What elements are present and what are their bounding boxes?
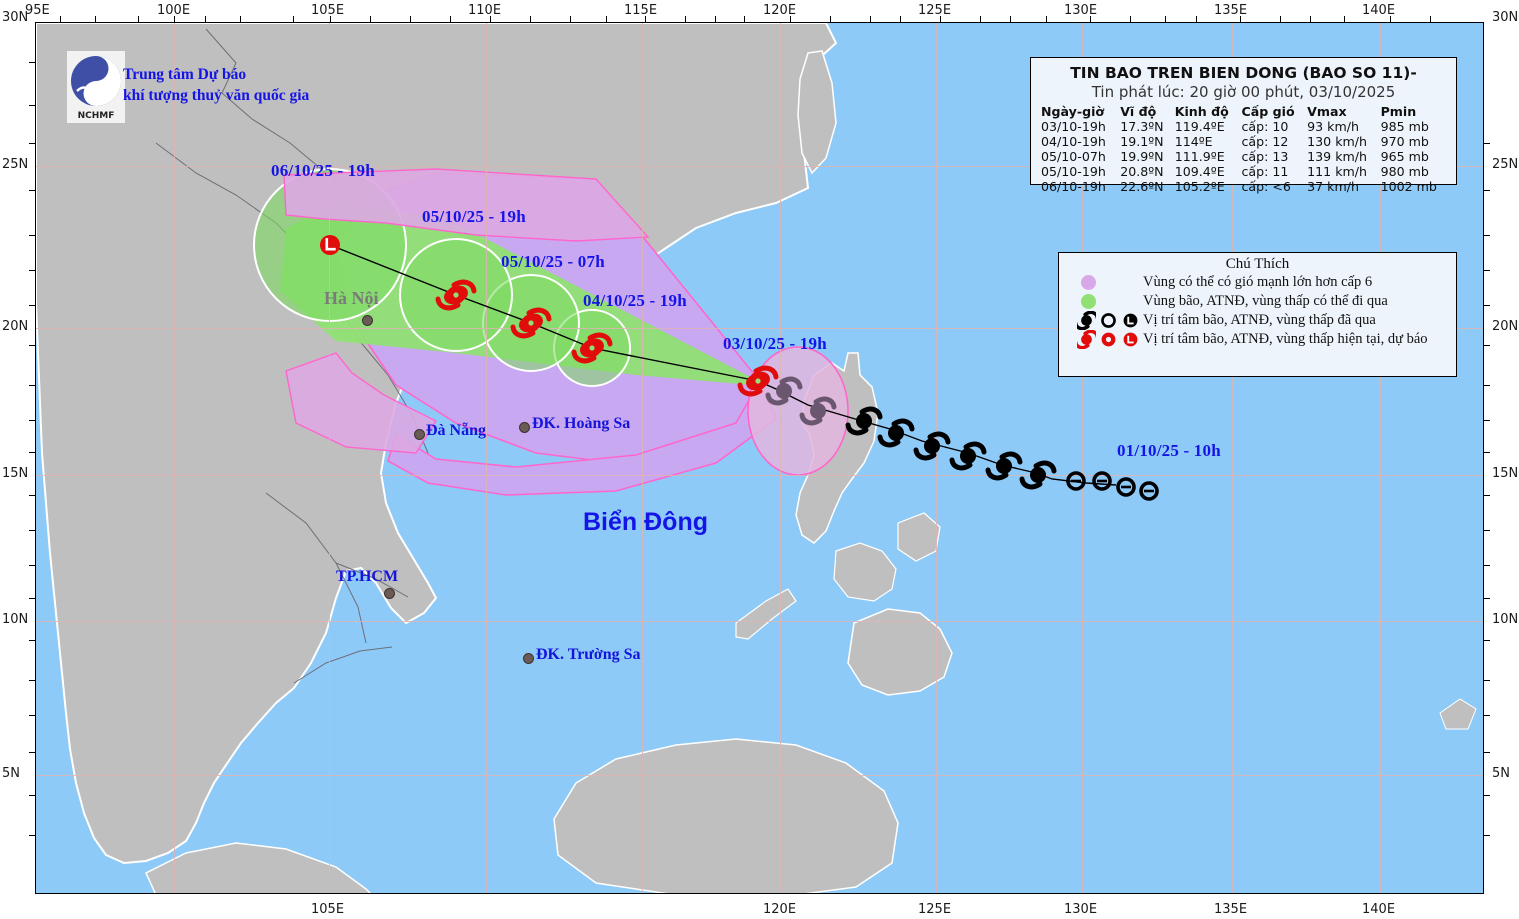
tick-top-34 bbox=[1310, 16, 1311, 22]
cell-pmin: 1002 mb bbox=[1379, 179, 1448, 194]
axis-left-lat-15n: 15N bbox=[2, 466, 28, 481]
tick-right-14 bbox=[1484, 640, 1490, 641]
city-dot-hoangsa bbox=[519, 422, 530, 433]
axis-left-lat-25n: 25N bbox=[2, 157, 28, 172]
cell-vmax: 130 km/h bbox=[1305, 134, 1378, 149]
typhoon-red-icon bbox=[1077, 330, 1096, 349]
cell-vmax: 93 km/h bbox=[1305, 119, 1378, 134]
tick-left-15 bbox=[29, 598, 35, 599]
axis-top-lon-100e: 100E bbox=[157, 3, 190, 18]
tick-right-6 bbox=[1484, 345, 1490, 346]
tick-top-18 bbox=[715, 16, 716, 22]
typhoon-forecast-map: 06/10/25 - 19h 05/10/25 - 19h 05/10/25 -… bbox=[0, 0, 1519, 919]
cell-datetime: 05/10-07h bbox=[1039, 149, 1118, 164]
tick-right-4 bbox=[1484, 270, 1490, 271]
cell-latitude: 17.3ºN bbox=[1118, 119, 1173, 134]
marker-low-3 bbox=[1118, 479, 1134, 495]
col-pmin: Pmin bbox=[1379, 104, 1448, 119]
tick-top-23 bbox=[900, 16, 901, 22]
axis-top-lon-140e: 140E bbox=[1362, 3, 1395, 18]
axis-left-lat-30n: 30N bbox=[2, 10, 28, 25]
axis-top-lon-115e: 115E bbox=[624, 3, 657, 18]
tick-right-12 bbox=[1484, 565, 1490, 566]
tick-top-7 bbox=[293, 16, 294, 22]
tick-top-5 bbox=[205, 16, 206, 22]
nchmf-logo: NCHMF bbox=[67, 51, 125, 123]
tick-top-35 bbox=[1344, 16, 1345, 22]
green-swatch-icon bbox=[1081, 294, 1096, 309]
table-row: 05/10-07h 19.9ºN 111.9ºE cấp: 13 139 km/… bbox=[1039, 149, 1448, 164]
bulletin-title: TIN BAO TREN BIEN DONG (BAO SO 11)- bbox=[1039, 64, 1448, 82]
cell-datetime: 03/10-19h bbox=[1039, 119, 1118, 134]
table-row: 04/10-19h 19.1ºN 114ºE cấp: 12 130 km/h … bbox=[1039, 134, 1448, 149]
marker-forecast-05-10-19h bbox=[438, 282, 474, 308]
axis-right-lat-10n: 10N bbox=[1492, 612, 1518, 627]
org-name: Trung tâm Dự báo khí tượng thuỷ văn quốc… bbox=[123, 65, 309, 107]
axis-right-lat-5n: 5N bbox=[1492, 766, 1510, 781]
col-datetime: Ngày-giờ bbox=[1039, 104, 1118, 119]
legend-item-past-positions: Vị trí tâm bão, ATNĐ, vùng thấp đã qua bbox=[1077, 311, 1456, 330]
tick-top-13 bbox=[530, 16, 531, 22]
track-path bbox=[330, 245, 1116, 485]
tick-top-33 bbox=[1280, 16, 1281, 22]
axis-bottom-lon-125e: 125E bbox=[918, 902, 951, 917]
marker-past-8 bbox=[1022, 463, 1054, 487]
cell-longitude: 109.4ºE bbox=[1173, 164, 1240, 179]
axis-top-lon-120e: 120E bbox=[763, 3, 796, 18]
tick-top-3 bbox=[138, 16, 139, 22]
tick-left-3 bbox=[29, 143, 35, 144]
tick-top-2 bbox=[95, 16, 96, 22]
tick-left-1 bbox=[29, 62, 35, 63]
legend-item-track-zone: Vùng bão, ATNĐ, vùng thấp có thể đi qua bbox=[1077, 292, 1456, 311]
axis-top-lon-135e: 135E bbox=[1214, 3, 1247, 18]
nchmf-logo-abbr: NCHMF bbox=[78, 111, 115, 121]
org-name-line1: Trung tâm Dự báo bbox=[123, 65, 309, 86]
bulletin-issued-time: Tin phát lúc: 20 giờ 00 phút, 03/10/2025 bbox=[1039, 83, 1448, 101]
tick-left-9 bbox=[29, 385, 35, 386]
tick-left-20 bbox=[29, 795, 35, 796]
cell-longitude: 105.2ºE bbox=[1173, 179, 1240, 194]
track-label-05-10-07h: 05/10/25 - 07h bbox=[501, 252, 605, 272]
purple-swatch-icon bbox=[1081, 275, 1096, 290]
axis-top-lon-110e: 110E bbox=[468, 3, 501, 18]
legend-panel: Chú Thích Vùng có thể có gió mạnh lớn hơ… bbox=[1058, 252, 1457, 377]
cell-longitude: 111.9ºE bbox=[1173, 149, 1240, 164]
tick-left-21 bbox=[29, 835, 35, 836]
circle-open-black-icon bbox=[1099, 311, 1118, 330]
tick-top-15 bbox=[606, 16, 607, 22]
cell-datetime: 04/10-19h bbox=[1039, 134, 1118, 149]
cell-pmin: 965 mb bbox=[1379, 149, 1448, 164]
cell-longitude: 119.4ºE bbox=[1173, 119, 1240, 134]
marker-past-4 bbox=[880, 421, 912, 445]
tick-right-2 bbox=[1484, 190, 1490, 191]
tick-top-21 bbox=[830, 16, 831, 22]
tick-right-10 bbox=[1484, 495, 1490, 496]
forecast-table-header-row: Ngày-giờ Vĩ độ Kinh độ Cấp gió Vmax Pmin bbox=[1039, 104, 1448, 119]
legend-item-current-positions: Vị trí tâm bão, ATNĐ, vùng thấp hiện tại… bbox=[1077, 330, 1456, 349]
col-windlevel: Cấp gió bbox=[1239, 104, 1305, 119]
tick-right-18 bbox=[1484, 795, 1490, 796]
table-row: 05/10-19h 20.8ºN 109.4ºE cấp: 11 111 km/… bbox=[1039, 164, 1448, 179]
tick-top-26 bbox=[1010, 16, 1011, 22]
axis-top-lon-125e: 125E bbox=[918, 3, 951, 18]
axis-right-lat-15n: 15N bbox=[1492, 466, 1518, 481]
axis-top-lon-95e: 95E bbox=[25, 3, 50, 18]
org-name-line2: khí tượng thuỷ văn quốc gia bbox=[123, 86, 309, 107]
tick-top-17 bbox=[685, 16, 686, 22]
tick-top-25 bbox=[980, 16, 981, 22]
city-dot-hanoi bbox=[362, 315, 373, 326]
track-label-04-10-19h: 04/10/25 - 19h bbox=[583, 291, 687, 311]
tick-left-14 bbox=[29, 565, 35, 566]
tick-left-8 bbox=[29, 345, 35, 346]
tick-left-2 bbox=[29, 105, 35, 106]
col-vmax: Vmax bbox=[1305, 104, 1378, 119]
tick-left-7 bbox=[29, 305, 35, 306]
marker-past-6 bbox=[952, 444, 984, 468]
tick-left-4 bbox=[29, 190, 35, 191]
cell-vmax: 139 km/h bbox=[1305, 149, 1378, 164]
forecast-table: Ngày-giờ Vĩ độ Kinh độ Cấp gió Vmax Pmin… bbox=[1039, 104, 1448, 194]
axis-bottom-lon-130e: 130E bbox=[1064, 902, 1097, 917]
tick-top-31 bbox=[1196, 16, 1197, 22]
tick-right-9 bbox=[1484, 452, 1490, 453]
legend-item-wind-zone: Vùng có thể có gió mạnh lớn hơn cấp 6 bbox=[1077, 273, 1456, 292]
tick-top-22 bbox=[870, 16, 871, 22]
track-label-03-10-19h: 03/10/25 - 19h bbox=[723, 334, 827, 354]
table-row: 06/10-19h 22.6ºN 105.2ºE cấp: <6 37 km/h… bbox=[1039, 179, 1448, 194]
marker-low-2 bbox=[1094, 473, 1110, 489]
cell-vmax: 37 km/h bbox=[1305, 179, 1378, 194]
tick-right-16 bbox=[1484, 715, 1490, 716]
nchmf-logo-icon: NCHMF bbox=[67, 51, 125, 123]
tick-right-7 bbox=[1484, 385, 1490, 386]
legend-label-current-positions: Vị trí tâm bão, ATNĐ, vùng thấp hiện tại… bbox=[1143, 331, 1428, 348]
track-label-06-10-19h: 06/10/25 - 19h bbox=[271, 161, 375, 181]
tick-right-19 bbox=[1484, 835, 1490, 836]
tick-top-10 bbox=[410, 16, 411, 22]
axis-left-lat-5n: 5N bbox=[2, 766, 20, 781]
legend-label-wind-zone: Vùng có thể có gió mạnh lớn hơn cấp 6 bbox=[1143, 274, 1372, 291]
legend-icons-past bbox=[1077, 311, 1143, 330]
axis-left-lat-10n: 10N bbox=[2, 612, 28, 627]
tick-right-13 bbox=[1484, 598, 1490, 599]
tick-left-12 bbox=[29, 495, 35, 496]
tick-right-3 bbox=[1484, 235, 1490, 236]
col-latitude: Vĩ độ bbox=[1118, 104, 1173, 119]
tick-left-17 bbox=[29, 680, 35, 681]
tick-left-19 bbox=[29, 752, 35, 753]
tick-right-11 bbox=[1484, 530, 1490, 531]
cell-datetime: 05/10-19h bbox=[1039, 164, 1118, 179]
low-red-icon bbox=[1121, 330, 1140, 349]
tick-right-17 bbox=[1484, 752, 1490, 753]
axis-right-lat-30n: 30N bbox=[1492, 10, 1518, 25]
marker-forecast-04-10-19h bbox=[574, 335, 610, 361]
city-dot-danang bbox=[414, 429, 425, 440]
label-tphcm: TP.HCM bbox=[336, 568, 398, 586]
tick-top-27 bbox=[1046, 16, 1047, 22]
tick-left-13 bbox=[29, 530, 35, 531]
city-dot-truongsa bbox=[523, 653, 534, 664]
tick-top-37 bbox=[1430, 16, 1431, 22]
axis-bottom-lon-140e: 140E bbox=[1362, 902, 1395, 917]
tick-left-10 bbox=[29, 420, 35, 421]
cell-windlevel: cấp: 13 bbox=[1239, 149, 1305, 164]
legend-title: Chú Thích bbox=[1059, 256, 1456, 273]
cell-pmin: 985 mb bbox=[1379, 119, 1448, 134]
track-label-01-10-10h: 01/10/25 - 10h bbox=[1117, 441, 1221, 461]
axis-left-lat-20n: 20N bbox=[2, 319, 28, 334]
axis-bottom-lon-105e: 105E bbox=[311, 902, 344, 917]
tick-top-30 bbox=[1165, 16, 1166, 22]
axis-top-lon-105e: 105E bbox=[311, 3, 344, 18]
tick-top-6 bbox=[240, 16, 241, 22]
cell-latitude: 19.1ºN bbox=[1118, 134, 1173, 149]
table-row: 03/10-19h 17.3ºN 119.4ºE cấp: 10 93 km/h… bbox=[1039, 119, 1448, 134]
label-truongsa: ĐK. Trường Sa bbox=[536, 646, 641, 664]
cell-datetime: 06/10-19h bbox=[1039, 179, 1118, 194]
tick-left-6 bbox=[29, 270, 35, 271]
axis-right-lat-25n: 25N bbox=[1492, 157, 1518, 172]
label-bien-dong: Biển Đông bbox=[583, 508, 708, 537]
axis-bottom-lon-120e: 120E bbox=[763, 902, 796, 917]
typhoon-black-icon bbox=[1077, 311, 1096, 330]
marker-past-3 bbox=[848, 409, 880, 433]
tick-right-5 bbox=[1484, 305, 1490, 306]
tick-left-11 bbox=[29, 452, 35, 453]
cell-windlevel: cấp: <6 bbox=[1239, 179, 1305, 194]
cell-windlevel: cấp: 12 bbox=[1239, 134, 1305, 149]
axis-top-lon-130e: 130E bbox=[1064, 3, 1097, 18]
marker-past-7 bbox=[988, 454, 1020, 478]
legend-label-past-positions: Vị trí tâm bão, ATNĐ, vùng thấp đã qua bbox=[1143, 312, 1376, 329]
tick-left-18 bbox=[29, 715, 35, 716]
marker-current-03-10-19h bbox=[740, 368, 776, 394]
storm-info-panel: TIN BAO TREN BIEN DONG (BAO SO 11)- Tin … bbox=[1030, 57, 1457, 185]
legend-icons-current bbox=[1077, 330, 1143, 349]
axis-bottom-lon-135e: 135E bbox=[1214, 902, 1247, 917]
cell-pmin: 980 mb bbox=[1379, 164, 1448, 179]
circle-red-icon bbox=[1099, 330, 1118, 349]
marker-forecast-05-10-07h bbox=[513, 310, 549, 336]
label-hanoi: Hà Nội bbox=[324, 288, 379, 309]
axis-right-lat-20n: 20N bbox=[1492, 319, 1518, 334]
cell-pmin: 970 mb bbox=[1379, 134, 1448, 149]
marker-low-4 bbox=[1141, 483, 1157, 499]
city-dot-tphcm bbox=[384, 588, 395, 599]
tick-top-1 bbox=[60, 16, 61, 22]
low-black-icon bbox=[1121, 311, 1140, 330]
legend-swatch-wind-zone bbox=[1077, 275, 1143, 290]
tick-left-5 bbox=[29, 235, 35, 236]
legend-label-track-zone: Vùng bão, ATNĐ, vùng thấp có thể đi qua bbox=[1143, 293, 1388, 310]
tick-top-19 bbox=[744, 16, 745, 22]
label-danang: Đà Nẵng bbox=[426, 422, 486, 440]
cell-vmax: 111 km/h bbox=[1305, 164, 1378, 179]
cell-longitude: 114ºE bbox=[1173, 134, 1240, 149]
tick-top-29 bbox=[1130, 16, 1131, 22]
legend-swatch-track-zone bbox=[1077, 294, 1143, 309]
tick-top-11 bbox=[450, 16, 451, 22]
label-hoangsa: ĐK. Hoàng Sa bbox=[532, 415, 630, 433]
cell-windlevel: cấp: 11 bbox=[1239, 164, 1305, 179]
tick-right-1 bbox=[1484, 143, 1490, 144]
track-label-05-10-19h: 05/10/25 - 19h bbox=[422, 207, 526, 227]
tick-top-14 bbox=[570, 16, 571, 22]
tick-top-9 bbox=[370, 16, 371, 22]
tick-left-16 bbox=[29, 640, 35, 641]
tick-right-15 bbox=[1484, 680, 1490, 681]
cell-latitude: 22.6ºN bbox=[1118, 179, 1173, 194]
col-longitude: Kinh độ bbox=[1173, 104, 1240, 119]
cell-latitude: 19.9ºN bbox=[1118, 149, 1173, 164]
marker-forecast-06-10-19h bbox=[320, 235, 340, 255]
cell-latitude: 20.8ºN bbox=[1118, 164, 1173, 179]
tick-right-8 bbox=[1484, 420, 1490, 421]
cell-windlevel: cấp: 10 bbox=[1239, 119, 1305, 134]
